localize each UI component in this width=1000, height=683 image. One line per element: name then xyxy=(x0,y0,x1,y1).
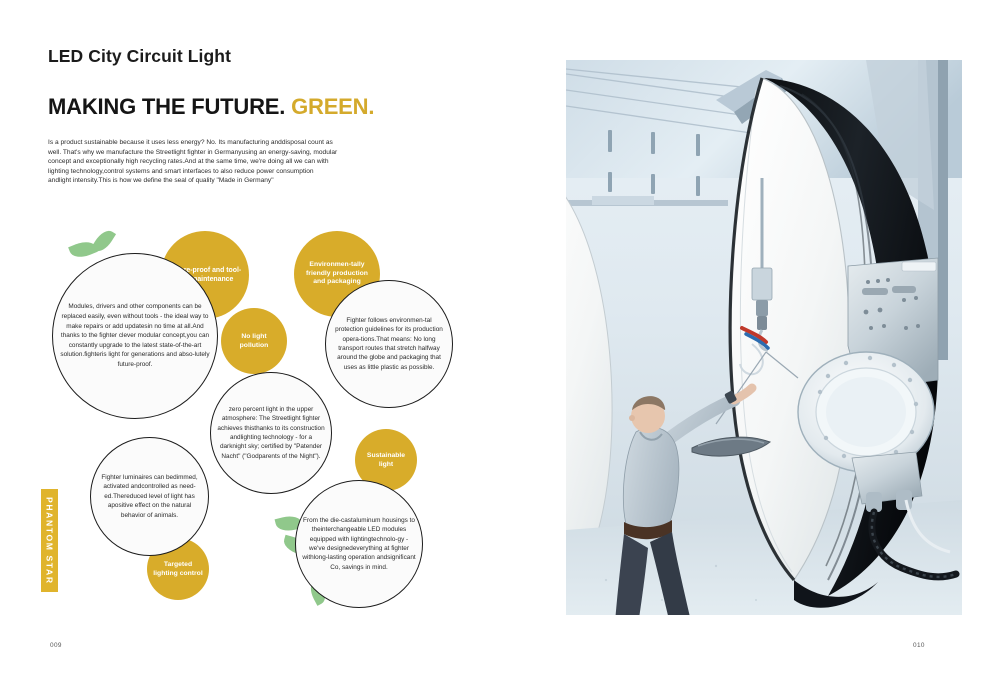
bubble-environment-text-copy: Fighter follows environmen-tal protectio… xyxy=(326,316,452,372)
bubble-materials-text: From the die-castaluminum housings to th… xyxy=(296,516,422,572)
bubble-dark-sky[interactable]: zero percent light in the upper atmosphe… xyxy=(210,372,332,494)
spread-page: LED City Circuit Light MAKING THE FUTURE… xyxy=(0,0,1000,683)
benefits-bubble-diagram: Future-proof and tool-free maintenance E… xyxy=(0,0,500,683)
bubble-materials[interactable]: From the die-castaluminum housings to th… xyxy=(295,480,423,608)
bubble-dimming[interactable]: Fighter luminaires can bedimmed, activat… xyxy=(90,437,209,556)
bubble-environment-text[interactable]: Fighter follows environmen-tal protectio… xyxy=(325,280,453,408)
bubble-dark-sky-text: zero percent light in the upper atmosphe… xyxy=(211,405,331,461)
factory-photo xyxy=(566,60,962,615)
bubble-dimming-text: Fighter luminaires can bedimmed, activat… xyxy=(91,473,208,520)
bubble-no-light-pollution-label: No light pollution xyxy=(221,332,287,350)
factory-photo-illustration xyxy=(566,60,962,615)
bubble-modularity-text: Modules, drivers and other components ca… xyxy=(53,302,217,369)
bubble-targeted-lighting-label: Targeted lighting control xyxy=(147,560,209,578)
bubble-sustainable-light-label: Sustainable light xyxy=(355,451,417,469)
folio-right: 010 xyxy=(913,642,925,649)
bubble-modularity[interactable]: Modules, drivers and other components ca… xyxy=(52,253,218,419)
folio-left: 009 xyxy=(50,642,62,649)
left-page: LED City Circuit Light MAKING THE FUTURE… xyxy=(0,0,500,683)
bubble-no-light-pollution[interactable]: No light pollution xyxy=(221,308,287,374)
